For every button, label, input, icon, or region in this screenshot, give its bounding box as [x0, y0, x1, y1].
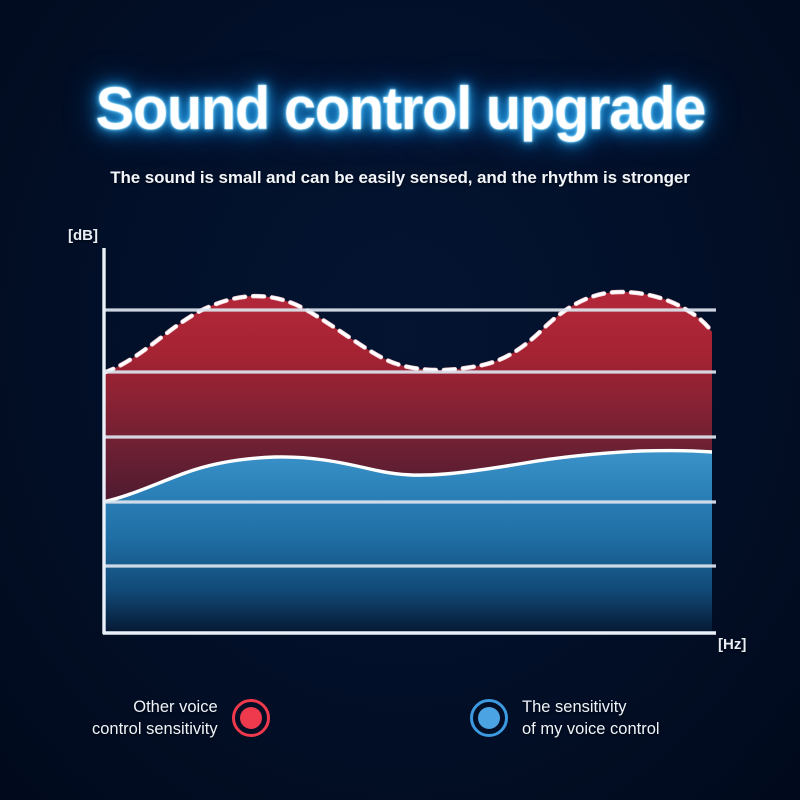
x-axis-label: [Hz]	[718, 636, 746, 653]
legend-marker-red-circle-icon	[232, 699, 270, 737]
legend-label-other-voice-control: Other voice control sensitivity	[92, 696, 218, 741]
legend-marker-blue-circle-icon	[470, 699, 508, 737]
legend-label-my-voice-control: The sensitivity of my voice control	[522, 696, 660, 741]
marker-dot	[240, 707, 262, 729]
area-my-voice-control	[103, 451, 712, 634]
sensitivity-area-chart	[0, 0, 800, 800]
legend-item-my-voice-control[interactable]: The sensitivity of my voice control	[470, 696, 660, 741]
legend-item-other-voice-control[interactable]: Other voice control sensitivity	[92, 696, 270, 741]
y-axis-label: [dB]	[68, 227, 98, 244]
sound-control-upgrade-infographic: Sound control upgrade The sound is small…	[0, 0, 800, 800]
